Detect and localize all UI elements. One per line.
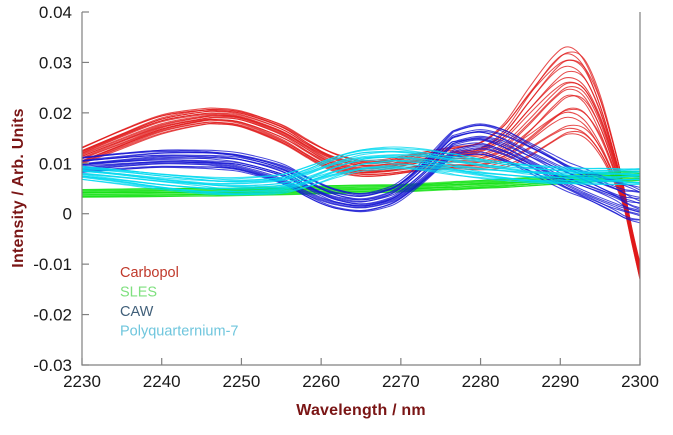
- y-axis-title: Intensity / Arb. Units: [10, 108, 27, 267]
- spectra-chart: 22302240225022602270228022902300 -0.03-0…: [0, 0, 673, 435]
- y-tick-label: -0.01: [33, 255, 72, 274]
- y-tick-label: 0.02: [39, 104, 72, 123]
- x-tick-label: 2270: [382, 372, 420, 391]
- y-tick-label: 0.04: [39, 3, 72, 22]
- x-tick-label: 2260: [302, 372, 340, 391]
- y-tick-label: 0.03: [39, 53, 72, 72]
- y-tick-label: -0.02: [33, 306, 72, 325]
- legend-item-caw: CAW: [120, 304, 154, 320]
- y-tick-label: 0.01: [39, 154, 72, 173]
- chart-canvas: 22302240225022602270228022902300 -0.03-0…: [0, 0, 673, 435]
- legend-item-polyquarternium-7: Polyquarternium-7: [120, 324, 238, 340]
- x-tick-label: 2280: [462, 372, 500, 391]
- x-tick-label: 2300: [621, 372, 659, 391]
- x-tick-label: 2250: [223, 372, 261, 391]
- x-tick-label: 2290: [541, 372, 579, 391]
- y-tick-label: 0: [63, 205, 72, 224]
- legend-item-carbopol: Carbopol: [120, 265, 179, 281]
- y-tick-label: -0.03: [33, 356, 72, 375]
- legend-item-sles: SLES: [120, 285, 157, 301]
- chart-background: [0, 0, 673, 435]
- x-tick-label: 2240: [143, 372, 181, 391]
- x-axis-title: Wavelength / nm: [296, 402, 426, 419]
